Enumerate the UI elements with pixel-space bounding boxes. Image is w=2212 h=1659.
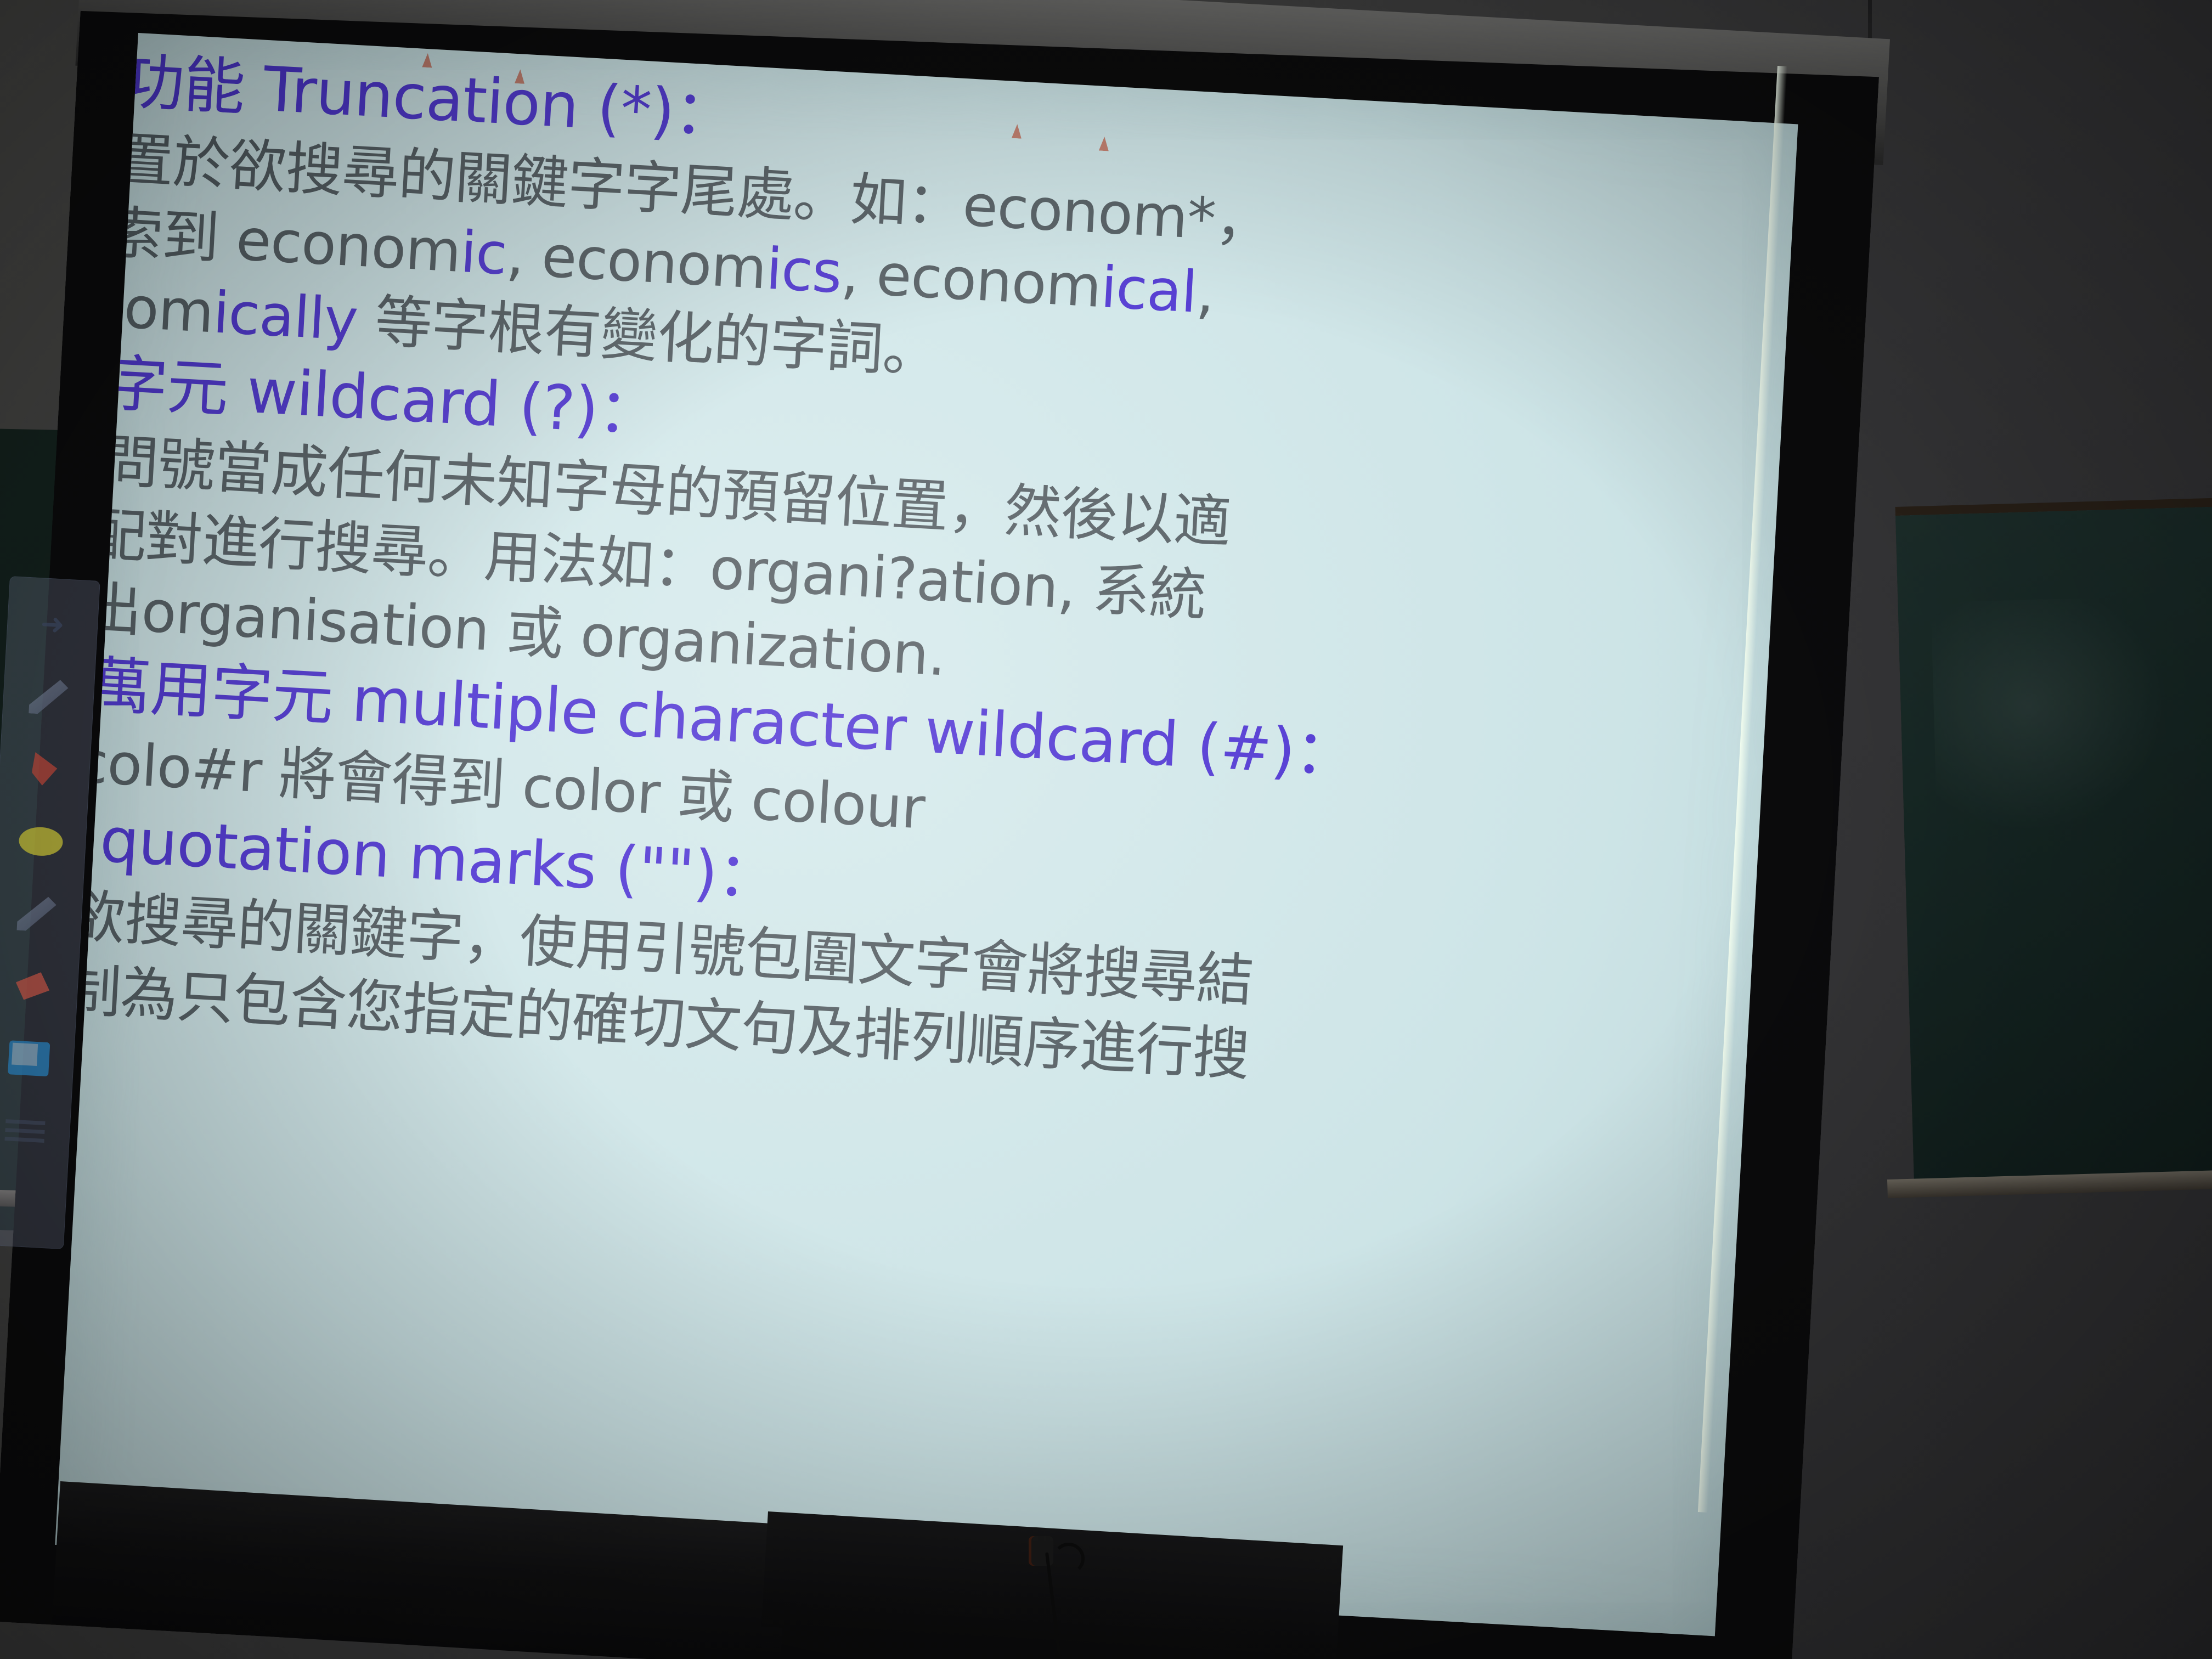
red-ink-icon[interactable] xyxy=(8,964,58,1008)
blue-screen-icon[interactable] xyxy=(4,1037,53,1080)
eraser-icon[interactable] xyxy=(12,892,61,935)
projected-slide: 截字功能 Truncation (*)： 字 * 置於欲搜尋的關鍵字字尾處。如：… xyxy=(55,33,1798,1636)
screen-pull-handle[interactable] xyxy=(1031,1536,1053,1566)
red-marker-icon[interactable] xyxy=(20,748,69,791)
highlighter-icon[interactable] xyxy=(16,820,65,864)
photo-scene: Redleaf 截字功能 Truncation (*)： 字 * 置於欲搜尋的關… xyxy=(0,0,2212,1659)
chalk-smudge xyxy=(1931,596,2173,838)
cable-loop xyxy=(1053,1543,1085,1575)
pen-icon[interactable] xyxy=(24,675,74,719)
pointer-icon[interactable]: ➜ xyxy=(28,603,77,646)
chalkboard-right xyxy=(1895,506,2212,1195)
menu-lines-icon[interactable] xyxy=(0,1109,49,1153)
slide-text-body: 截字功能 Truncation (*)： 字 * 置於欲搜尋的關鍵字字尾處。如：… xyxy=(55,36,1798,1127)
